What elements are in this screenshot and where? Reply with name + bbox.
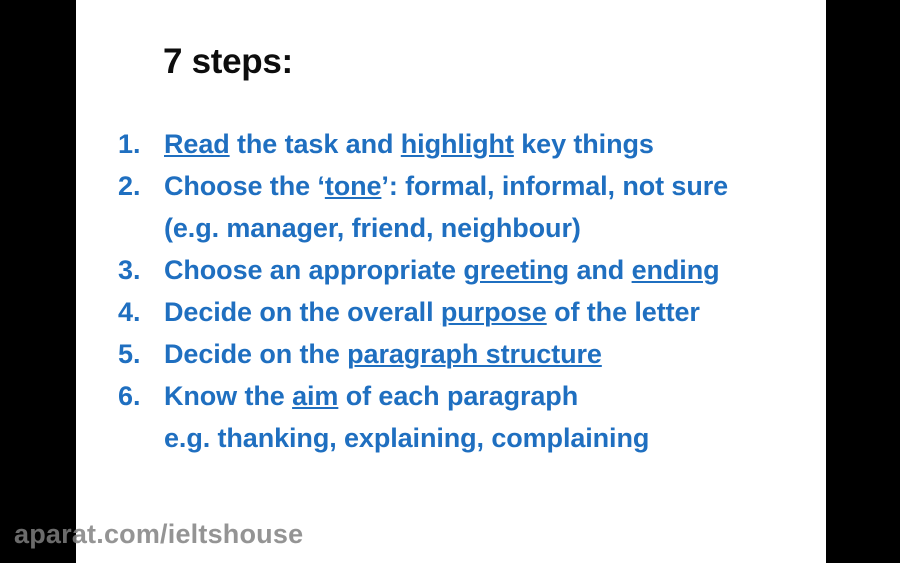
list-item-marker: 4. <box>118 291 154 333</box>
list-item: 2.Choose the ‘tone’: formal, informal, n… <box>76 165 826 207</box>
list-item-text: (e.g. manager, friend, neighbour) <box>164 207 581 249</box>
list-item-marker: 1. <box>118 123 154 165</box>
list-item-text: Read the task and highlight key things <box>164 123 654 165</box>
video-player-screen: 7 steps: 1.Read the task and highlight k… <box>0 0 900 563</box>
text-run: key things <box>514 129 654 159</box>
text-run: ’: formal, informal, not sure <box>381 171 728 201</box>
text-run: Choose the ‘ <box>164 171 325 201</box>
list-item: 1.Read the task and highlight key things <box>76 123 826 165</box>
letterbox-bar-left <box>0 0 76 563</box>
steps-list: 1.Read the task and highlight key things… <box>76 123 826 459</box>
list-item-text: Choose the ‘tone’: formal, informal, not… <box>164 165 728 207</box>
text-run: Decide on the <box>164 339 347 369</box>
emphasised-keyword: aim <box>292 381 338 411</box>
text-run: the task and <box>230 129 401 159</box>
text-run: e.g. thanking, explaining, complaining <box>164 423 649 453</box>
page-title: 7 steps: <box>163 44 293 79</box>
list-item-text: Choose an appropriate greeting and endin… <box>164 249 719 291</box>
text-run: of the letter <box>547 297 700 327</box>
emphasised-keyword: tone <box>325 171 382 201</box>
list-item-text: Know the aim of each paragraph <box>164 375 578 417</box>
list-item: 5.Decide on the paragraph structure <box>76 333 826 375</box>
list-item: 6.Know the aim of each paragraph <box>76 375 826 417</box>
text-run: and <box>569 255 632 285</box>
letterbox-bar-right <box>826 0 900 563</box>
text-run: (e.g. manager, friend, neighbour) <box>164 213 581 243</box>
presentation-slide: 7 steps: 1.Read the task and highlight k… <box>76 0 826 563</box>
step-continuation-row: e.g. thanking, explaining, complaining <box>76 417 826 459</box>
emphasised-keyword: greeting <box>463 255 569 285</box>
text-run: of each paragraph <box>338 381 578 411</box>
list-item-marker: 5. <box>118 333 154 375</box>
emphasised-keyword: ending <box>632 255 720 285</box>
emphasised-keyword: paragraph structure <box>347 339 602 369</box>
emphasised-keyword: highlight <box>401 129 514 159</box>
emphasised-keyword: Read <box>164 129 230 159</box>
text-run: Decide on the overall <box>164 297 441 327</box>
list-item-text: e.g. thanking, explaining, complaining <box>164 417 649 459</box>
emphasised-keyword: purpose <box>441 297 547 327</box>
step-continuation-row: (e.g. manager, friend, neighbour) <box>76 207 826 249</box>
list-item-marker: 6. <box>118 375 154 417</box>
list-item-text: Decide on the paragraph structure <box>164 333 602 375</box>
list-item: 3.Choose an appropriate greeting and end… <box>76 249 826 291</box>
list-item-marker: 2. <box>118 165 154 207</box>
text-run: Know the <box>164 381 292 411</box>
text-run: Choose an appropriate <box>164 255 463 285</box>
list-item: 4.Decide on the overall purpose of the l… <box>76 291 826 333</box>
list-item-text: Decide on the overall purpose of the let… <box>164 291 700 333</box>
list-item-marker: 3. <box>118 249 154 291</box>
